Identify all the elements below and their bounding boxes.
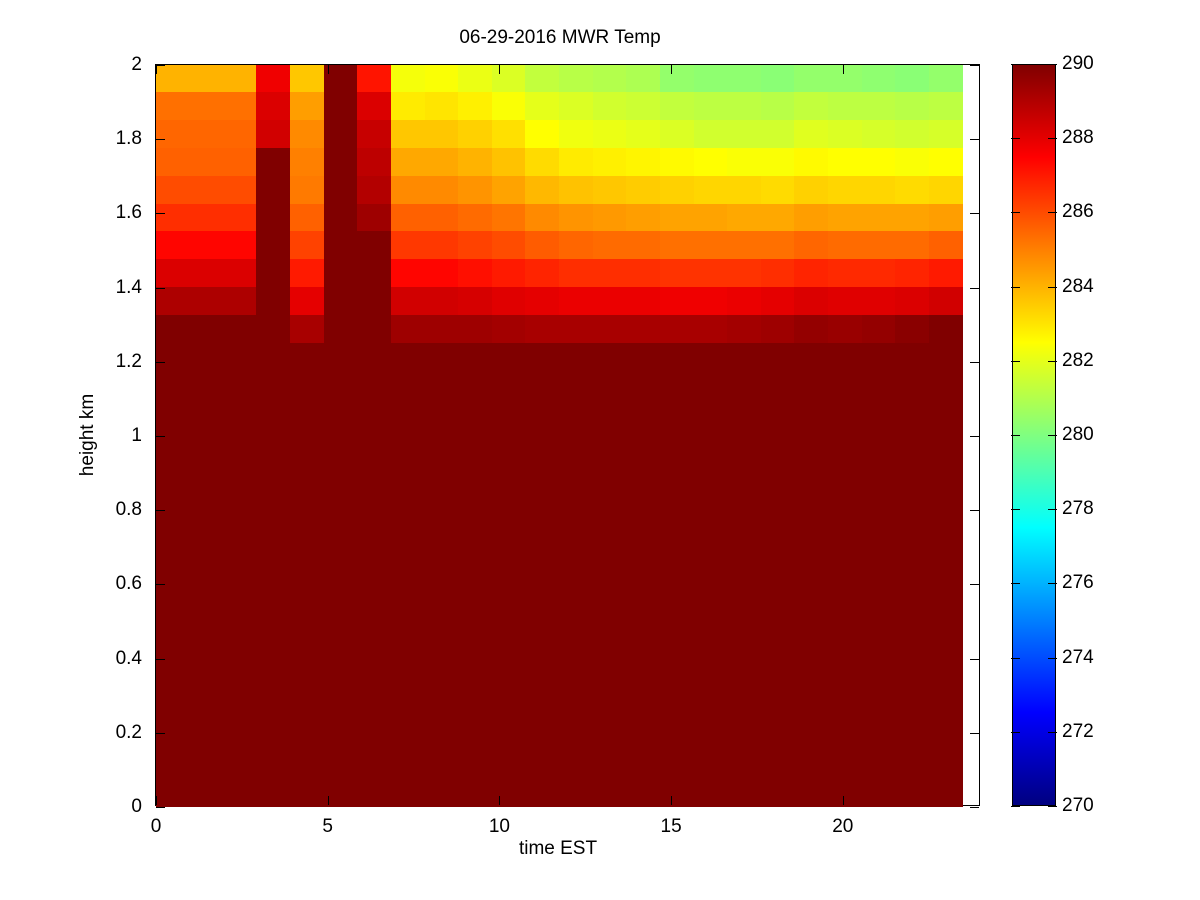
heatmap-cell [862, 426, 897, 455]
heatmap-cell [895, 482, 930, 539]
heatmap-cell [357, 760, 392, 798]
y-axis-tick [156, 807, 165, 808]
y-axis-tick-right [970, 807, 979, 808]
heatmap-cell [156, 398, 190, 427]
heatmap-cell [357, 120, 392, 149]
heatmap-cell [694, 176, 729, 205]
heatmap-cell [727, 649, 762, 706]
heatmap-cell [357, 204, 392, 233]
heatmap-cell [223, 259, 258, 288]
heatmap-cell [929, 315, 963, 344]
heatmap-cell [862, 204, 897, 233]
colorbar-tick-left [1011, 64, 1020, 65]
heatmap-cell [290, 593, 325, 650]
heatmap-cell [626, 315, 661, 344]
heatmap-cell [525, 538, 560, 595]
colorbar-tick-left [1011, 138, 1020, 139]
x-axis-tick [156, 796, 157, 805]
heatmap-cell [525, 315, 560, 344]
x-axis-tick [328, 796, 329, 805]
heatmap-cell [929, 371, 963, 400]
colorbar-tick-left [1011, 509, 1020, 510]
heatmap-cell [189, 176, 224, 205]
heatmap-cell [425, 259, 460, 288]
heatmap-cell [660, 231, 695, 260]
heatmap-cell [223, 65, 258, 93]
y-axis-tick-right [970, 584, 979, 585]
heatmap-cell [828, 120, 863, 149]
heatmap-cell [324, 593, 359, 650]
x-axis-tick [499, 796, 500, 805]
heatmap-cell [794, 315, 829, 344]
heatmap-cell [324, 704, 359, 761]
heatmap-cell [761, 65, 796, 93]
colorbar-tick-left [1011, 435, 1020, 436]
heatmap-cell [727, 65, 762, 93]
heatmap-cell [794, 454, 829, 483]
x-axis-tick-top [843, 65, 844, 74]
heatmap-cell [357, 426, 392, 455]
heatmap-cell [189, 92, 224, 121]
colorbar-tick-label: 274 [1062, 647, 1094, 669]
heatmap-cell [492, 287, 527, 316]
heatmap-cell [290, 65, 325, 93]
heatmap-cell [862, 398, 897, 427]
heatmap-cell [660, 287, 695, 316]
heatmap-cell [929, 593, 963, 650]
heatmap-cell [626, 148, 661, 177]
heatmap-cell [357, 231, 392, 260]
heatmap-cell [929, 65, 963, 93]
heatmap-cell [895, 593, 930, 650]
heatmap-cell [223, 315, 258, 344]
heatmap-cell [324, 259, 359, 288]
heatmap-cell [862, 65, 897, 93]
heatmap-cell [761, 148, 796, 177]
heatmap-cell [156, 371, 190, 400]
y-axis-tick-right [970, 65, 979, 66]
heatmap-cell [324, 231, 359, 260]
heatmap-cell [189, 593, 224, 650]
heatmap-cell [626, 176, 661, 205]
heatmap-cell [593, 65, 628, 93]
heatmap-cell [660, 426, 695, 455]
heatmap-cell [290, 176, 325, 205]
heatmap-cell [425, 176, 460, 205]
heatmap-cell [223, 454, 258, 483]
heatmap-cell [862, 315, 897, 344]
heatmap-cell [391, 343, 426, 372]
heatmap-cell [391, 398, 426, 427]
heatmap-cell [626, 120, 661, 149]
heatmap-cell [357, 176, 392, 205]
heatmap-cell [660, 454, 695, 483]
x-tick-label: 10 [489, 816, 510, 838]
heatmap-cell [391, 482, 426, 539]
heatmap-cell [223, 760, 258, 798]
heatmap-cell [357, 259, 392, 288]
y-tick-label: 0.6 [116, 573, 142, 595]
chart-title: 06-29-2016 MWR Temp [155, 27, 965, 49]
heatmap-cell [862, 482, 897, 539]
y-tick-label: 0.2 [116, 722, 142, 744]
x-tick-label: 20 [832, 816, 853, 838]
heatmap-cell [256, 259, 291, 288]
heatmap-cell [357, 315, 392, 344]
colorbar-ticks [1012, 64, 1056, 806]
heatmap-cell [761, 704, 796, 761]
heatmap-cell [458, 176, 493, 205]
heatmap-cell [189, 482, 224, 539]
heatmap-cell [425, 454, 460, 483]
heatmap-cell [727, 287, 762, 316]
heatmap-cell [660, 148, 695, 177]
heatmap-cell [492, 371, 527, 400]
heatmap-cell [256, 482, 291, 539]
heatmap-cell [156, 454, 190, 483]
heatmap-cell [929, 176, 963, 205]
heatmap-cell [761, 315, 796, 344]
heatmap-cell [156, 315, 190, 344]
heatmap-cell [458, 204, 493, 233]
heatmap-cell [828, 797, 863, 807]
heatmap-cell [324, 120, 359, 149]
heatmap-cell [156, 287, 190, 316]
heatmap-cell [525, 92, 560, 121]
heatmap-cell [794, 204, 829, 233]
heatmap-cell [256, 704, 291, 761]
heatmap-cell [156, 343, 190, 372]
heatmap-cell [761, 760, 796, 798]
heatmap-cell [391, 204, 426, 233]
x-axis-title: time EST [519, 838, 597, 860]
colorbar-tick-label: 290 [1062, 53, 1094, 75]
heatmap-cell [660, 92, 695, 121]
heatmap-cell [626, 593, 661, 650]
heatmap-cell [862, 649, 897, 706]
heatmap-cell [189, 148, 224, 177]
heatmap-cell [156, 649, 190, 706]
heatmap-cell [324, 176, 359, 205]
heatmap-cell [156, 120, 190, 149]
heatmap-cell [828, 259, 863, 288]
heatmap-cell [761, 797, 796, 807]
heatmap-cell [828, 287, 863, 316]
heatmap-cell [660, 65, 695, 93]
x-axis-tick [843, 796, 844, 805]
heatmap-cell [660, 343, 695, 372]
y-axis-tick-right [970, 362, 979, 363]
heatmap-cell [895, 454, 930, 483]
heatmap-cell [559, 204, 594, 233]
heatmap-cell [256, 148, 291, 177]
heatmap-cell [492, 797, 527, 807]
heatmap-cell [425, 120, 460, 149]
heatmap-cell [391, 231, 426, 260]
heatmap-cell [256, 287, 291, 316]
heatmap-cell [525, 426, 560, 455]
heatmap-cell [425, 704, 460, 761]
heatmap-cell [458, 538, 493, 595]
heatmap-cell [324, 371, 359, 400]
heatmap-cell [593, 593, 628, 650]
heatmap-cell [391, 426, 426, 455]
heatmap-cell [559, 482, 594, 539]
heatmap-cell [761, 482, 796, 539]
heatmap-cell [290, 204, 325, 233]
heatmap-cell [458, 649, 493, 706]
heatmap-cell [492, 760, 527, 798]
heatmap-cell [223, 538, 258, 595]
heatmap-cell [156, 176, 190, 205]
heatmap-cell [189, 704, 224, 761]
y-tick-label: 0.8 [116, 499, 142, 521]
heatmap-cell [256, 231, 291, 260]
colorbar-tick-left [1011, 361, 1020, 362]
heatmap-cell [626, 204, 661, 233]
heatmap-cell [324, 649, 359, 706]
colorbar-tick-label: 280 [1062, 424, 1094, 446]
heatmap-cell [492, 343, 527, 372]
heatmap-cell [694, 593, 729, 650]
heatmap-cell [559, 538, 594, 595]
heatmap-cell [761, 649, 796, 706]
heatmap-cell [525, 704, 560, 761]
heatmap-cell [256, 649, 291, 706]
heatmap-cell [626, 454, 661, 483]
heatmap-cell [525, 148, 560, 177]
heatmap-cell [458, 148, 493, 177]
heatmap-cell [727, 315, 762, 344]
heatmap-cell [694, 148, 729, 177]
heatmap-cell [895, 92, 930, 121]
heatmap-cell [458, 454, 493, 483]
y-axis-tick-right [970, 659, 979, 660]
heatmap-cell [290, 454, 325, 483]
heatmap-cell [458, 231, 493, 260]
heatmap-cell [458, 426, 493, 455]
heatmap-cell [660, 704, 695, 761]
heatmap-cell [828, 204, 863, 233]
heatmap-cell [458, 343, 493, 372]
y-tick-label: 0.4 [116, 648, 142, 670]
heatmap-cell [761, 287, 796, 316]
y-axis-tick [156, 510, 165, 511]
heatmap-cell [929, 704, 963, 761]
heatmap-cell [828, 482, 863, 539]
heatmap-cell [559, 92, 594, 121]
heatmap-cell [694, 704, 729, 761]
heatmap-cell [794, 148, 829, 177]
heatmap-cell [256, 204, 291, 233]
heatmap-cell [189, 454, 224, 483]
heatmap-cell [626, 92, 661, 121]
heatmap-cell [660, 760, 695, 798]
heatmap-cell [156, 259, 190, 288]
heatmap-cell [794, 398, 829, 427]
heatmap-cell [492, 176, 527, 205]
heatmap-cell [525, 176, 560, 205]
heatmap-cell [391, 287, 426, 316]
heatmap-cell [525, 398, 560, 427]
heatmap-cell [694, 454, 729, 483]
colorbar-tick-label: 278 [1062, 498, 1094, 520]
heatmap-cell [794, 482, 829, 539]
heatmap-cell [593, 371, 628, 400]
y-tick-label: 1.4 [116, 277, 142, 299]
heatmap-cell [761, 120, 796, 149]
heatmap-cell [794, 760, 829, 798]
heatmap-cell [559, 371, 594, 400]
heatmap-cell [694, 92, 729, 121]
heatmap-cell [357, 704, 392, 761]
heatmap-cell [862, 371, 897, 400]
heatmap-cell [929, 343, 963, 372]
heatmap-cell [761, 454, 796, 483]
heatmap-cell [492, 538, 527, 595]
heatmap-cell [626, 649, 661, 706]
heatmap-cell [895, 760, 930, 798]
heatmap-cell [189, 231, 224, 260]
y-axis-tick [156, 733, 165, 734]
heatmap-cell [492, 231, 527, 260]
heatmap-cell [357, 92, 392, 121]
heatmap-cell [794, 426, 829, 455]
heatmap-cell [929, 426, 963, 455]
heatmap-cell [525, 371, 560, 400]
heatmap-cell [895, 797, 930, 807]
heatmap-cell [156, 538, 190, 595]
heatmap-cell [626, 760, 661, 798]
heatmap-cell [189, 398, 224, 427]
heatmap-cell [357, 148, 392, 177]
heatmap-cell [391, 593, 426, 650]
heatmap-cell [626, 482, 661, 539]
heatmap-cell [660, 371, 695, 400]
heatmap-cell [828, 315, 863, 344]
heatmap-cell [391, 704, 426, 761]
heatmap-cell [290, 315, 325, 344]
heatmap-cell [727, 204, 762, 233]
x-axis-tick-top [156, 65, 157, 74]
heatmap-cell [761, 398, 796, 427]
y-axis-tick [156, 288, 165, 289]
colorbar-tick-labels: 270272274276278280282284286288290 [1062, 64, 1182, 806]
heatmap-cell [290, 398, 325, 427]
heatmap-cell [559, 176, 594, 205]
heatmap-cell [425, 482, 460, 539]
heatmap-cell [593, 259, 628, 288]
heatmap-cell [727, 426, 762, 455]
heatmap-cell [794, 92, 829, 121]
heatmap-cell [559, 65, 594, 93]
heatmap-cell [862, 176, 897, 205]
heatmap-cell [694, 315, 729, 344]
heatmap-cell [189, 371, 224, 400]
heatmap-cell [458, 92, 493, 121]
heatmap-cell [660, 398, 695, 427]
heatmap-cell [761, 204, 796, 233]
heatmap-cell [357, 538, 392, 595]
heatmap-cell [660, 482, 695, 539]
heatmap-cell [828, 426, 863, 455]
y-tick-label: 1.6 [116, 202, 142, 224]
heatmap-cell [425, 398, 460, 427]
heatmap-cell [525, 343, 560, 372]
heatmap-cell [862, 797, 897, 807]
heatmap-cell [794, 538, 829, 595]
heatmap-cell [727, 593, 762, 650]
heatmap-cell [492, 148, 527, 177]
heatmap-cell [593, 797, 628, 807]
heatmap-cell [895, 426, 930, 455]
heatmap-cell [189, 797, 224, 807]
heatmap-cell [324, 315, 359, 344]
heatmap-cell [895, 315, 930, 344]
heatmap-cell [324, 204, 359, 233]
heatmap-cell [189, 120, 224, 149]
heatmap-cell [761, 426, 796, 455]
heatmap-cell [559, 797, 594, 807]
heatmap-cell [189, 287, 224, 316]
heatmap-cell [593, 704, 628, 761]
heatmap-cell [895, 649, 930, 706]
heatmap-cell [223, 176, 258, 205]
heatmap-cell [458, 120, 493, 149]
heatmap-cell [223, 797, 258, 807]
heatmap-cell [357, 287, 392, 316]
heatmap-cell [391, 120, 426, 149]
heatmap-cell [929, 231, 963, 260]
x-axis-tick [671, 796, 672, 805]
heatmap-cell [727, 371, 762, 400]
heatmap-cell [290, 760, 325, 798]
heatmap-cell [492, 259, 527, 288]
heatmap-cell [727, 482, 762, 539]
heatmap-cell [492, 120, 527, 149]
heatmap-cell [156, 593, 190, 650]
heatmap-cell [492, 398, 527, 427]
heatmap-cell [189, 649, 224, 706]
heatmap-cell [324, 454, 359, 483]
heatmap-cell [559, 760, 594, 798]
heatmap-cell [694, 259, 729, 288]
heatmap-cell [324, 92, 359, 121]
heatmap-cell [525, 649, 560, 706]
heatmap-cell [794, 287, 829, 316]
heatmap-cell [727, 92, 762, 121]
heatmap-cell [223, 148, 258, 177]
heatmap-cell [626, 426, 661, 455]
heatmap-cell [156, 148, 190, 177]
heatmap-cell [156, 760, 190, 798]
y-axis-tick-right [970, 213, 979, 214]
y-tick-label: 1.8 [116, 128, 142, 150]
heatmap-cell [794, 65, 829, 93]
heatmap-cell [290, 538, 325, 595]
heatmap-cell [425, 315, 460, 344]
heatmap-cell [256, 426, 291, 455]
figure-canvas: 06-29-2016 MWR Temp 00.20.40.60.811.21.4… [0, 0, 1200, 900]
colorbar-tick [1048, 361, 1057, 362]
heatmap-cell [156, 426, 190, 455]
heatmap-cell [694, 65, 729, 93]
heatmap-cell [492, 426, 527, 455]
heatmap-cell [492, 65, 527, 93]
heatmap-cell [357, 797, 392, 807]
heatmap-cell [727, 343, 762, 372]
heatmap-cell [525, 287, 560, 316]
